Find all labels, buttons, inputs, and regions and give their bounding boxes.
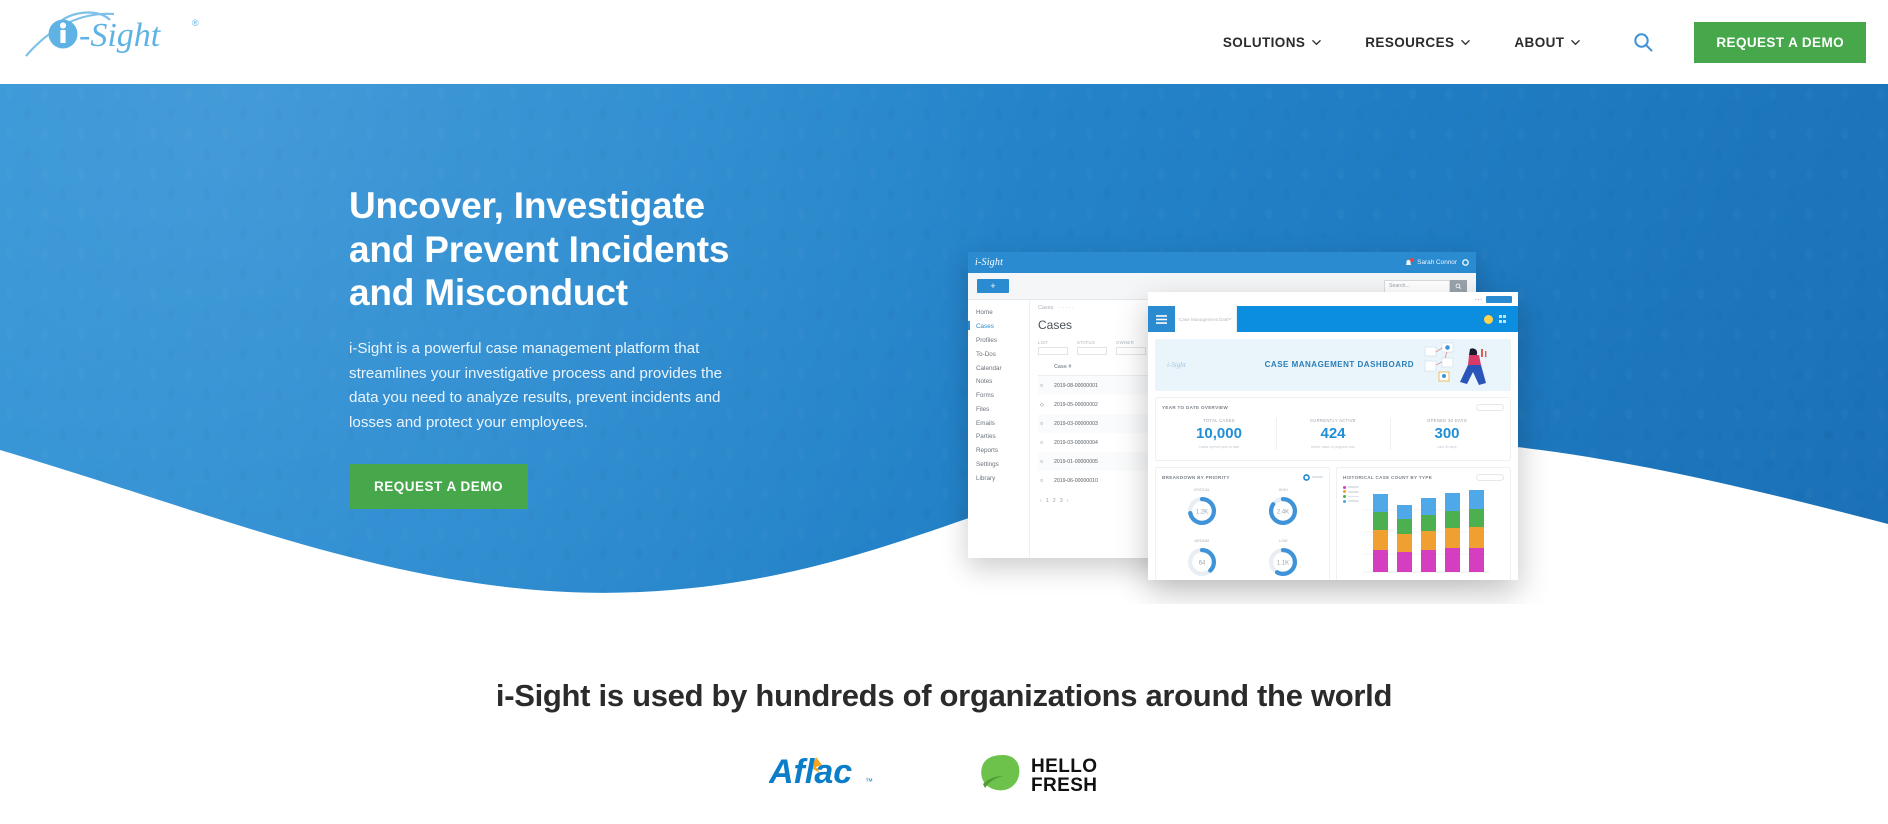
kpi-note: Last 30 days <box>1390 445 1504 450</box>
dashboard-select[interactable]: Case Management Dashboard <box>1175 306 1237 332</box>
coin-icon[interactable] <box>1484 315 1493 324</box>
chart-legend <box>1343 486 1359 503</box>
filter-status[interactable]: STATUS <box>1077 340 1107 355</box>
donut-label: MEDIUM <box>1162 539 1242 543</box>
nav-item-about-label: ABOUT <box>1514 35 1564 50</box>
search-icon <box>1455 283 1462 290</box>
sidebar-item-files[interactable]: Files <box>968 402 1029 416</box>
pagination-page-1[interactable]: 1 <box>1046 498 1049 504</box>
customers-section: i-Sight is used by hundreds of organizat… <box>0 604 1888 824</box>
sidebar-item-library[interactable]: Library <box>968 471 1029 485</box>
sidebar-item-parties[interactable]: Parties <box>968 430 1029 444</box>
filter-list[interactable]: LIST <box>1038 340 1068 355</box>
chevron-down-icon <box>1312 38 1321 47</box>
svg-text:HELLO: HELLO <box>1031 756 1097 777</box>
chart-panel-action[interactable] <box>1476 474 1504 481</box>
donut-label: HIGH <box>1244 488 1324 492</box>
donut-low: LOW 1.1K <box>1244 537 1324 580</box>
cases-search-group: Search... <box>1384 280 1467 293</box>
svg-text:2.4K: 2.4K <box>1277 509 1289 515</box>
aflac-logo-icon: Aflac ™ <box>769 750 879 796</box>
svg-text:®: ® <box>192 18 199 28</box>
dashboard-toolbar: Case Management Dashboard <box>1148 306 1518 332</box>
kpi-value: 300 <box>1390 426 1504 441</box>
cases-search-input[interactable]: Search... <box>1384 280 1450 293</box>
search-icon <box>1632 31 1654 53</box>
kpi-opened-30-days: OPENED 30 DAYS 300 Last 30 days <box>1390 416 1504 454</box>
dashboard-chrome-label: • • • <box>1475 297 1482 302</box>
header-request-demo-button[interactable]: REQUEST A DEMO <box>1694 22 1866 63</box>
breadcrumb-label: Cases <box>1038 305 1053 311</box>
gear-icon[interactable] <box>1462 259 1469 266</box>
sidebar-item-reports[interactable]: Reports <box>968 444 1029 458</box>
sidebar-item-emails[interactable]: Emails <box>968 416 1029 430</box>
sidebar-item-notes[interactable]: Notes <box>968 375 1029 389</box>
overview-card-head: YEAR TO DATE OVERVIEW <box>1162 404 1504 411</box>
dashboard-chrome: • • • <box>1148 292 1518 306</box>
dashboard-select-value: Case Management Dashboard <box>1179 317 1228 322</box>
hero-wave-divider <box>0 406 1888 604</box>
legend-item <box>1343 500 1359 503</box>
hero-title: Uncover, Investigate and Prevent Inciden… <box>349 184 749 315</box>
chevron-down-icon <box>1461 38 1470 47</box>
site-header: -Sight ® SOLUTIONS RESOURCES ABOUT <box>0 0 1888 84</box>
donut-medium: MEDIUM 64 <box>1162 537 1242 580</box>
priority-donuts: CRITICAL 1.2K HIGH <box>1162 486 1323 580</box>
priority-panel-head: BREAKDOWN BY PRIORITY <box>1162 474 1323 481</box>
chart-area <box>1343 486 1504 578</box>
kpi-currently-active: CURRENTLY ACTIVE 424 Active cases in pro… <box>1276 416 1390 454</box>
sidebar-item-forms[interactable]: Forms <box>968 389 1029 403</box>
legend-item <box>1343 495 1359 498</box>
grid-icon[interactable] <box>1499 315 1507 323</box>
sidebar-item-home[interactable]: Home <box>968 306 1029 320</box>
sidebar-item-calendar[interactable]: Calendar <box>968 361 1029 375</box>
kpi-note: Cases opened year to date <box>1162 445 1276 450</box>
dashboard-app-window: • • • Case Management Dashboard i <box>1148 292 1518 580</box>
cases-app-topbar: i-Sight Sarah Connor <box>968 252 1476 273</box>
row-icon: ○ <box>1038 414 1052 433</box>
logo-i-sight[interactable]: -Sight ® <box>22 8 222 66</box>
hero-request-demo-button[interactable]: REQUEST A DEMO <box>349 464 528 509</box>
filter-owner[interactable]: OWNER <box>1116 340 1146 355</box>
cases-app-logo: i-Sight <box>975 257 1003 268</box>
customer-logos: Aflac ™ HELLO FRESH <box>0 748 1888 798</box>
dashboard-toolbar-right <box>1237 306 1518 332</box>
pagination-next[interactable]: › <box>1067 498 1069 504</box>
svg-text:1.2K: 1.2K <box>1196 509 1208 515</box>
nav-item-resources-label: RESOURCES <box>1365 35 1454 50</box>
product-screenshot-mockup: i-Sight Sarah Connor + Search... <box>960 244 1560 604</box>
customers-title: i-Sight is used by hundreds of organizat… <box>0 678 1888 714</box>
pagination-page-2[interactable]: 2 <box>1053 498 1056 504</box>
dashboard-chrome-button[interactable] <box>1486 296 1512 303</box>
donut-label: CRITICAL <box>1162 488 1242 492</box>
svg-text:Aflac: Aflac <box>769 753 852 791</box>
svg-text:™: ™ <box>865 777 873 786</box>
donut-chart-icon: 64 <box>1185 545 1219 579</box>
donut-label: LOW <box>1244 539 1324 543</box>
donut-chart-icon: 2.4K <box>1266 494 1300 528</box>
stacked-bar-chart <box>1363 486 1489 578</box>
kpi-label: OPENED 30 DAYS <box>1390 418 1504 423</box>
donut-chart-icon: 1.1K <box>1266 545 1300 579</box>
kpi-total-cases: TOTAL CASES 10,000 Cases opened year to … <box>1162 416 1276 454</box>
kpi-value: 424 <box>1276 426 1390 441</box>
row-icon: ○ <box>1038 471 1052 490</box>
main-navigation: SOLUTIONS RESOURCES ABOUT REQUEST A DEMO <box>1223 0 1888 84</box>
overview-card: YEAR TO DATE OVERVIEW TOTAL CASES 10,000… <box>1155 397 1511 461</box>
donut-critical: CRITICAL 1.2K <box>1162 486 1242 535</box>
hero-section: Uncover, Investigate and Prevent Inciden… <box>0 84 1888 604</box>
pagination-page-3[interactable]: 3 <box>1060 498 1063 504</box>
nav-item-about[interactable]: ABOUT <box>1514 35 1580 50</box>
dashboard-banner: i-Sight CASE MANAGEMENT DASHBOARD <box>1155 339 1511 391</box>
hero-subtitle: i-Sight is a powerful case management pl… <box>349 337 724 436</box>
row-icon: ○ <box>1038 452 1052 471</box>
kpi-label: CURRENTLY ACTIVE <box>1276 418 1390 423</box>
svg-text:FRESH: FRESH <box>1031 775 1097 796</box>
row-icon: ◇ <box>1038 395 1052 414</box>
chevron-down-icon <box>1228 317 1232 321</box>
hellofresh-logo-icon: HELLO FRESH <box>969 748 1119 798</box>
dashboard-illustration <box>1423 341 1507 389</box>
nav-item-solutions[interactable]: SOLUTIONS <box>1223 35 1321 50</box>
add-case-button[interactable]: + <box>977 279 1009 293</box>
sidebar-item-cases[interactable]: Cases <box>968 320 1029 334</box>
kpi-note: Active cases in progress now <box>1276 445 1390 450</box>
cases-app-user-name: Sarah Connor <box>1417 259 1457 266</box>
overview-card-title: YEAR TO DATE OVERVIEW <box>1162 405 1228 410</box>
priority-panel-title: BREAKDOWN BY PRIORITY <box>1162 475 1230 480</box>
cases-search-button[interactable] <box>1450 280 1467 293</box>
logo-aflac: Aflac ™ <box>769 750 879 796</box>
breadcrumb-tabs: · · · · · <box>1057 305 1073 311</box>
kpi-label: TOTAL CASES <box>1162 418 1276 423</box>
svg-text:64: 64 <box>1198 560 1205 566</box>
dashboard-body: i-Sight CASE MANAGEMENT DASHBOARD <box>1148 332 1518 580</box>
priority-breakdown-panel: BREAKDOWN BY PRIORITY CRITICAL <box>1155 467 1330 580</box>
search-button[interactable] <box>1632 31 1654 53</box>
row-icon: ○ <box>1038 376 1052 396</box>
historical-case-count-panel: HISTORICAL CASE COUNT BY TYPE <box>1336 467 1511 580</box>
legend-item <box>1343 490 1359 493</box>
sidebar-item-profiles[interactable]: Profiles <box>968 334 1029 348</box>
row-icon: ○ <box>1038 433 1052 452</box>
logo-hellofresh: HELLO FRESH <box>969 748 1119 798</box>
kpi-value: 10,000 <box>1162 426 1276 441</box>
dashboard-panels: BREAKDOWN BY PRIORITY CRITICAL <box>1155 467 1511 580</box>
priority-panel-toggle[interactable] <box>1303 474 1323 481</box>
legend-item <box>1343 486 1359 489</box>
chevron-down-icon <box>1571 38 1580 47</box>
donut-high: HIGH 2.4K <box>1244 486 1324 535</box>
menu-icon[interactable] <box>1148 306 1175 332</box>
nav-item-solutions-label: SOLUTIONS <box>1223 35 1305 50</box>
bell-icon[interactable] <box>1405 259 1412 267</box>
cases-app-user[interactable]: Sarah Connor <box>1405 259 1469 267</box>
donut-chart-icon: 1.2K <box>1185 494 1219 528</box>
nav-item-resources[interactable]: RESOURCES <box>1365 35 1470 50</box>
hero-copy: Uncover, Investigate and Prevent Inciden… <box>349 184 749 509</box>
notification-dot <box>1410 258 1414 262</box>
i-sight-logo-icon: -Sight ® <box>22 8 222 66</box>
overview-card-action[interactable] <box>1476 404 1504 411</box>
sidebar-item-settings[interactable]: Settings <box>968 458 1029 472</box>
svg-text:1.1K: 1.1K <box>1277 560 1289 566</box>
pagination-prev[interactable]: ‹ <box>1040 498 1042 504</box>
chart-panel-head: HISTORICAL CASE COUNT BY TYPE <box>1343 474 1504 481</box>
svg-text:-Sight: -Sight <box>79 17 162 54</box>
chart-panel-title: HISTORICAL CASE COUNT BY TYPE <box>1343 475 1432 480</box>
sidebar-item-to-dos[interactable]: To-Dos <box>968 347 1029 361</box>
donut-icon <box>1303 474 1310 481</box>
kpi-group: TOTAL CASES 10,000 Cases opened year to … <box>1162 416 1504 454</box>
cases-app-sidebar: Home Cases Profiles To-Dos Calendar Note… <box>968 300 1030 558</box>
